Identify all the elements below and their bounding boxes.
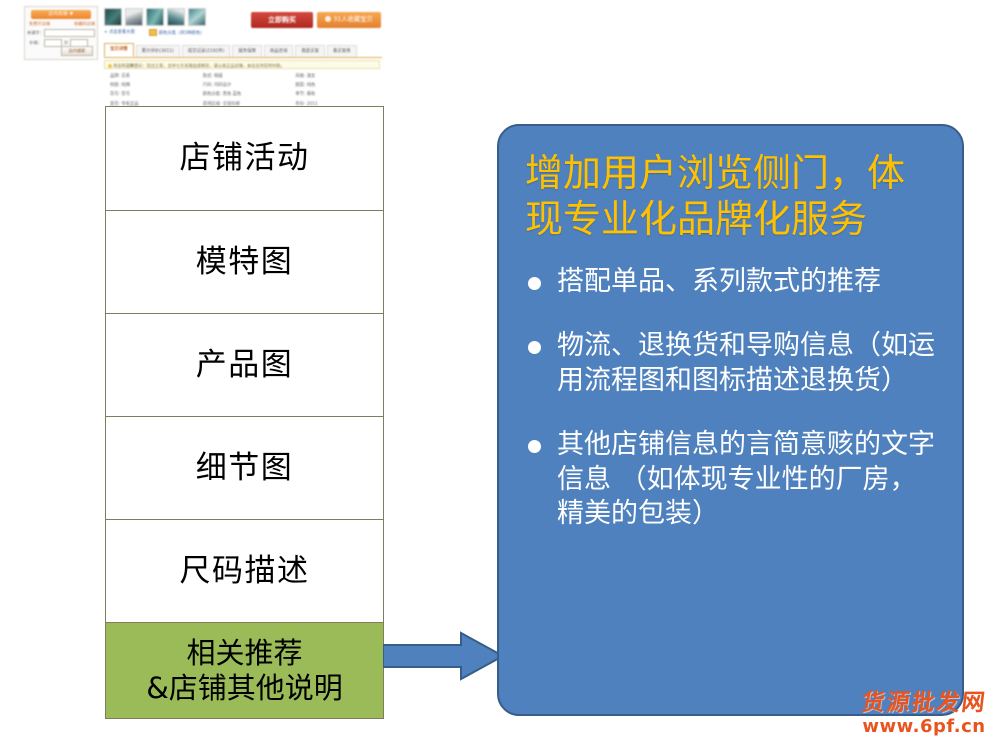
- connector-arrow: [383, 629, 507, 683]
- callout-bullet-text: 物流、退换货和导购信息（如运用流程图和图标描述退换货）: [557, 329, 942, 398]
- attribute-row: 颜色分类: 黑色 蓝色: [203, 90, 290, 99]
- link-open-shop[interactable]: 免费开店铺: [29, 21, 50, 27]
- flow-box-label: 细节图: [196, 450, 294, 487]
- callout-title: 增加用户浏览侧门，体现专业化品牌化服务: [525, 150, 942, 243]
- thumbnail-sublinks: + 点击查看大图 颜色分类（共5种颜色）: [104, 29, 204, 36]
- link-favorite-shops[interactable]: 收藏的店铺: [74, 21, 95, 27]
- favorite-count-button[interactable]: 31人收藏宝贝: [317, 12, 381, 28]
- tab-service-guarantee[interactable]: 服务保障: [232, 45, 262, 57]
- product-thumbnail-4[interactable]: [167, 8, 185, 26]
- flow-box-product-photos[interactable]: 产品图: [106, 314, 383, 417]
- attribute-row: 材质: 纯棉: [110, 81, 197, 90]
- callout-bullet-item: 其他店铺信息的言简意赅的文字信息 （如体现专业性的厂房，精美的包装）: [525, 428, 942, 532]
- bullet-dot-icon: [528, 341, 541, 354]
- store-notice-banner: 淘宝网温馨提示：货比三家，支持七天无理由退换货，请认准正品店铺，本店支持货到付款…: [104, 60, 380, 69]
- flow-box-label: 店铺活动: [180, 140, 310, 177]
- tab-reviews[interactable]: 累计评价(3011): [136, 45, 180, 57]
- color-category-label: 颜色分类（共5种颜色）: [159, 31, 205, 36]
- keyword-input[interactable]: [44, 29, 95, 37]
- keyword-label: 关键字：: [27, 30, 42, 36]
- attribute-row: 货号: 型号: [110, 90, 197, 99]
- favorite-count-label: 31人收藏宝贝: [333, 16, 373, 23]
- flow-box-label-line1: 相关推荐: [186, 636, 302, 670]
- heart-icon: [325, 16, 331, 22]
- color-category-link[interactable]: 颜色分类（共5种颜色）: [149, 29, 205, 36]
- tab-buyer-show[interactable]: 看买家秀: [327, 45, 357, 57]
- product-thumbnail-5[interactable]: [188, 8, 206, 26]
- tab-i-am-buyer[interactable]: 我是买家: [295, 45, 325, 57]
- flow-box-label: 模特图: [196, 244, 294, 281]
- page-section-flow-stack: 店铺活动 模特图 产品图 细节图 尺码描述 相关推荐 &店铺其他说明: [105, 106, 384, 719]
- product-thumbnail-1[interactable]: [104, 8, 122, 26]
- view-large-image-link[interactable]: + 点击查看大图: [104, 29, 135, 35]
- product-tab-bar: 宝贝详情 累计评价(3011) 成交记录(2192件) 服务保障 商品咨询 我是…: [104, 44, 382, 58]
- price-min-input[interactable]: [44, 39, 62, 47]
- watermark-site-url: www.6pf.cn: [854, 718, 994, 736]
- callout-bullet-item: 搭配单品、系列款式的推荐: [525, 265, 942, 300]
- product-thumbnail-3[interactable]: [146, 8, 164, 26]
- attribute-row: 风格: 淑女: [295, 72, 382, 81]
- flow-box-label-multiline: 相关推荐 &店铺其他说明: [146, 636, 343, 704]
- attribute-column-3: 风格: 淑女 图案: 纯色 季节: 春秋 年份: 2011: [289, 72, 382, 110]
- flow-box-detail-photos[interactable]: 细节图: [106, 417, 383, 520]
- tab-product-inquiry[interactable]: 商品咨询: [264, 45, 294, 57]
- attribute-row: 季节: 春秋: [295, 90, 382, 99]
- buy-now-button[interactable]: 立即购买: [251, 12, 313, 28]
- attribute-row: 图案: 纯色: [295, 81, 382, 90]
- callout-bullet-text: 其他店铺信息的言简意赅的文字信息 （如体现专业性的厂房，精美的包装）: [557, 428, 942, 532]
- site-watermark: 货源批发网 www.6pf.cn: [854, 692, 994, 746]
- flow-box-size-description[interactable]: 尺码描述: [106, 520, 383, 623]
- bullet-dot-icon: [528, 277, 541, 290]
- flow-box-store-activity[interactable]: 店铺活动: [106, 107, 383, 211]
- attribute-row: 尺码: 均码设计: [203, 81, 290, 90]
- product-attribute-table: 品牌: 日系 材质: 纯棉 货号: 型号 是否: 专柜正品 款式: 韩版 尺码:…: [104, 72, 382, 110]
- bullet-dot-icon: [528, 440, 541, 453]
- flow-box-label: 产品图: [196, 347, 294, 384]
- attribute-column-1: 品牌: 日系 材质: 纯棉 货号: 型号 是否: 专柜正品: [104, 72, 197, 110]
- store-search-button[interactable]: 店内搜索: [61, 46, 93, 56]
- info-icon: [108, 64, 112, 68]
- tab-product-details[interactable]: 宝贝详情: [104, 43, 134, 57]
- product-thumbnail-2[interactable]: [125, 8, 143, 26]
- attribute-row: 品牌: 日系: [110, 72, 197, 81]
- store-links: 免费开店铺 收藏的店铺: [29, 21, 95, 27]
- flow-box-label-line2: &店铺其他说明: [146, 671, 343, 705]
- callout-bullet-item: 物流、退换货和导购信息（如运用流程图和图标描述退换货）: [525, 329, 942, 398]
- taobao-product-page-screenshot: 店内热销 ▼ 免费开店铺 收藏的店铺 关键字： 价格： 到 店内搜索 + 点击查…: [0, 0, 400, 112]
- attribute-row: 款式: 韩版: [203, 72, 290, 81]
- folder-icon: [149, 29, 157, 36]
- arrow-right-icon: [383, 629, 507, 683]
- price-label: 价格：: [27, 40, 42, 46]
- keyword-filter-row: 关键字：: [27, 29, 95, 37]
- flow-box-model-photos[interactable]: 模特图: [106, 211, 383, 314]
- store-promo-button[interactable]: 店内热销 ▼: [31, 10, 91, 19]
- store-filter-panel: 店内热销 ▼ 免费开店铺 收藏的店铺 关键字： 价格： 到 店内搜索: [24, 6, 98, 60]
- flow-box-label: 尺码描述: [180, 553, 310, 590]
- attribute-column-2: 款式: 韩版 尺码: 均码设计 颜色分类: 黑色 蓝色 适用区域: 全国包邮: [197, 72, 290, 110]
- product-thumbnail-strip: [104, 8, 206, 26]
- store-notice-text: 淘宝网温馨提示：货比三家，支持七天无理由退换货，请认准正品店铺，本店支持货到付款…: [113, 63, 285, 68]
- callout-bullet-list: 搭配单品、系列款式的推荐 物流、退换货和导购信息（如运用流程图和图标描述退换货）…: [525, 265, 942, 532]
- callout-panel: 增加用户浏览侧门，体现专业化品牌化服务 搭配单品、系列款式的推荐 物流、退换货和…: [497, 124, 964, 716]
- tab-transaction-records[interactable]: 成交记录(2192件): [182, 45, 231, 57]
- watermark-site-name: 货源批发网: [853, 692, 996, 715]
- callout-bullet-text: 搭配单品、系列款式的推荐: [557, 265, 942, 300]
- flow-box-related-recommendations[interactable]: 相关推荐 &店铺其他说明: [106, 623, 383, 718]
